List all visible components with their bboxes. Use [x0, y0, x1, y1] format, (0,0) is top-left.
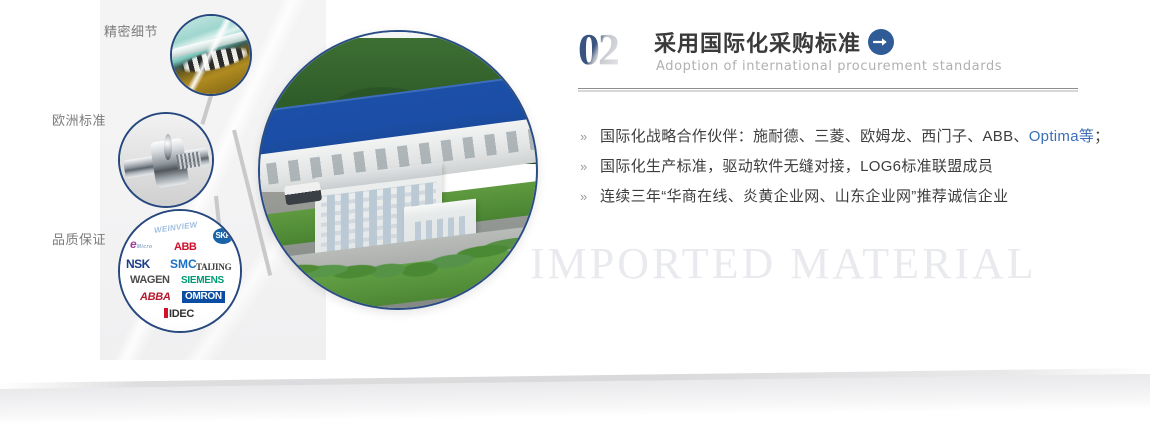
idec-logo: IDEC: [164, 308, 194, 320]
chevron-right-icon: »: [580, 152, 588, 182]
list-item-tail: ；: [1094, 128, 1109, 145]
watermark-text: IMPORTED MATERIAL: [530, 238, 1130, 289]
section-header: 02 采用国际化采购标准 Adoption of international p…: [578, 26, 1078, 86]
right-content: 02 采用国际化采购标准 Adoption of international p…: [578, 26, 1078, 86]
precision-tooth-image: [172, 16, 250, 94]
label-quality-assurance: 品质保证: [52, 229, 106, 248]
label-precision-detail: 精密细节: [104, 21, 158, 40]
page-title: 采用国际化采购标准: [654, 26, 861, 58]
idec-bar-icon: [164, 308, 168, 318]
e-brand-sub: Micro: [137, 244, 153, 250]
chevron-right-icon: »: [580, 182, 588, 212]
list-item: » 连续三年“华商在线、炎黄企业网、山东企业网”推荐诚信企业: [578, 182, 1078, 212]
factory-photo-inner: [260, 32, 536, 308]
ball-screw-image: [120, 114, 212, 206]
abb-logo: ABB: [174, 242, 196, 253]
chevron-right-icon: »: [580, 122, 588, 152]
taijing-logo: TAIJING: [196, 263, 231, 272]
e-brand-logo: eMicro: [130, 238, 153, 250]
header-divider: [578, 88, 1078, 92]
list-item: » 国际化战略合作伙伴：施耐德、三菱、欧姆龙、西门子、ABB、Optima等；: [578, 122, 1078, 152]
list-item-text: 连续三年“华商在线、炎黄企业网、山东企业网”推荐诚信企业: [600, 188, 1008, 205]
label-european-standard: 欧洲标准: [52, 110, 106, 129]
smc-logo: SMC: [170, 258, 197, 270]
wagen-logo: WAGEN: [130, 275, 170, 286]
abba-logo: ABBA: [140, 292, 171, 303]
list-item: » 国际化生产标准，驱动软件无缝对接，LOG6标准联盟成员: [578, 152, 1078, 182]
skf-logo: SKF: [213, 228, 234, 244]
precision-detail-circle[interactable]: [170, 14, 252, 96]
list-item-highlight: Optima等: [1029, 128, 1094, 145]
list-item-text: 国际化生产标准，驱动软件无缝对接，LOG6标准联盟成员: [600, 158, 993, 175]
list-item-text: 国际化战略合作伙伴：施耐德、三菱、欧姆龙、西门子、ABB、: [600, 128, 1029, 145]
nsk-logo: NSK: [126, 258, 150, 270]
siemens-logo: SIEMENS: [181, 276, 224, 286]
factory-building-photo[interactable]: [258, 30, 538, 310]
brand-logo-collage: WEINVIEW SKF eMicro ABB NSK SMC TAIJING …: [120, 211, 240, 331]
smc-mark-icon: [119, 210, 136, 222]
omron-logo: OMRON: [182, 291, 225, 303]
idec-logo-text: IDEC: [169, 308, 194, 320]
section-number: 02: [578, 24, 618, 75]
european-standard-circle[interactable]: [118, 112, 214, 208]
promo-banner: WEINVIEW SKF eMicro ABB NSK SMC TAIJING …: [0, 0, 1150, 430]
weinview-logo: WEINVIEW: [154, 221, 198, 235]
page-subtitle: Adoption of international procurement st…: [656, 59, 1002, 74]
arrow-right-circle-icon[interactable]: [868, 29, 894, 55]
feature-list: » 国际化战略合作伙伴：施耐德、三菱、欧姆龙、西门子、ABB、Optima等； …: [578, 122, 1078, 212]
quality-brands-circle[interactable]: WEINVIEW SKF eMicro ABB NSK SMC TAIJING …: [118, 209, 242, 333]
